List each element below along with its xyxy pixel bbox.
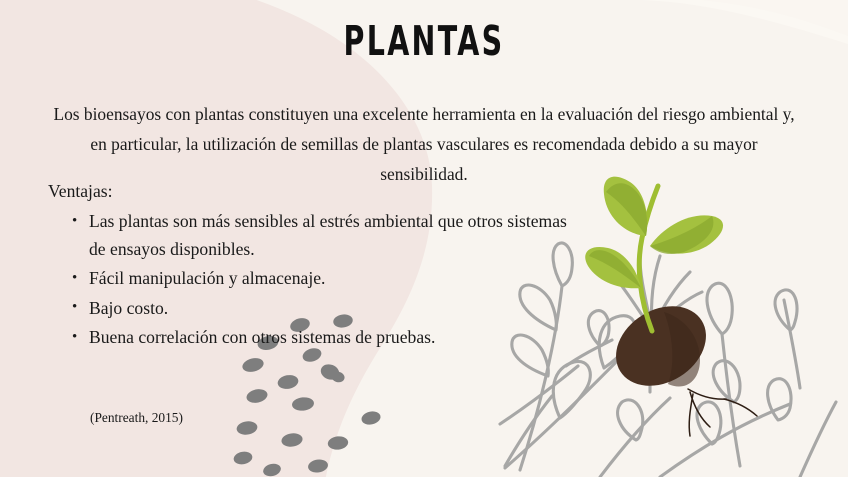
list-item: Bajo costo. (72, 295, 572, 323)
advantages-list: Las plantas son más sensibles al estrés … (72, 208, 572, 354)
citation-reference: (Pentreath, 2015) (90, 410, 183, 426)
page-title: PLANTAS (34, 18, 814, 66)
list-item: Buena correlación con otros sistemas de … (72, 324, 572, 352)
advantages-label: Ventajas: (48, 178, 113, 204)
list-item: Fácil manipulación y almacenaje. (72, 265, 572, 293)
intro-paragraph: Los bioensayos con plantas constituyen u… (48, 99, 800, 189)
slide-content: PLANTAS Los bioensayos con plantas const… (0, 0, 848, 477)
slide-canvas: PLANTAS Los bioensayos con plantas const… (0, 0, 848, 477)
list-item: Las plantas son más sensibles al estrés … (72, 208, 572, 263)
